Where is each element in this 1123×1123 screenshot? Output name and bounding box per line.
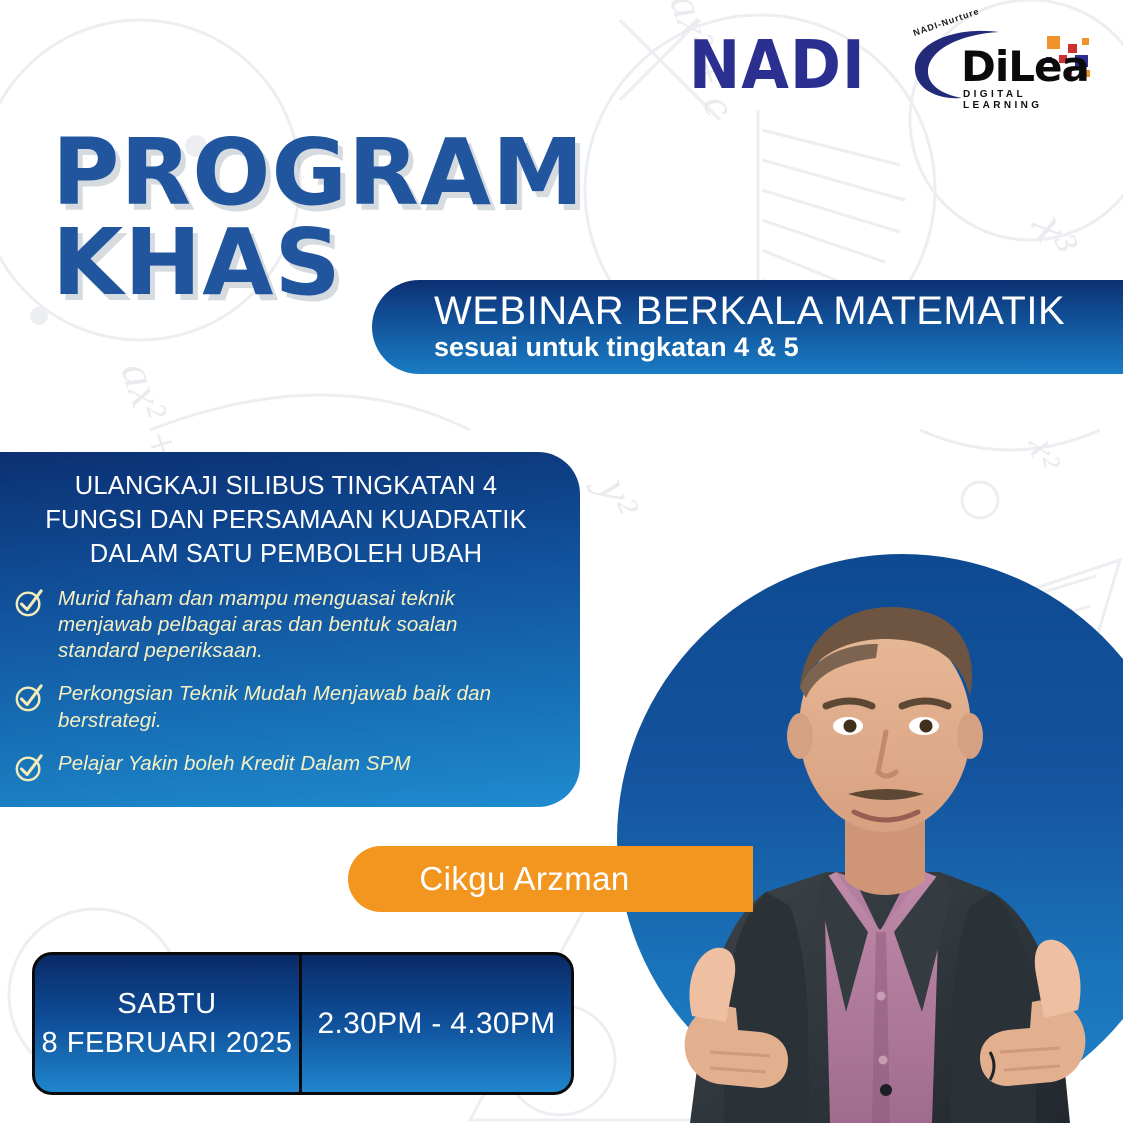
dilea-wordmark: DiLea <box>961 46 1089 88</box>
benefits-list: Murid faham dan mampu menguasai teknik m… <box>14 586 566 783</box>
schedule-time: 2.30PM - 4.30PM <box>318 1007 556 1041</box>
list-item: Perkongsian Teknik Mudah Menjawab baik d… <box>14 681 540 733</box>
dilea-logo: NADI-Nurture DiLea DIGITAL LEARNING <box>907 24 1095 106</box>
panel-heading-line3: DALAM SATU PEMBOLEH UBAH <box>14 538 558 572</box>
list-item: Pelajar Yakin boleh Kredit Dalam SPM <box>14 751 540 783</box>
check-circle-icon <box>14 683 44 713</box>
schedule-date-cell: SABTU 8 FEBRUARI 2025 <box>35 955 302 1092</box>
panel-heading-line1: ULANGKAJI SILIBUS TINGKATAN 4 <box>14 470 558 504</box>
webinar-banner: WEBINAR BERKALA MATEMATIK sesuai untuk t… <box>372 280 1123 374</box>
check-circle-icon <box>14 753 44 783</box>
nadi-logo: NADI <box>688 32 865 99</box>
list-item-label: Perkongsian Teknik Mudah Menjawab baik d… <box>58 681 540 733</box>
check-circle-icon <box>14 588 44 618</box>
watermark-formula-3: x² <box>1019 434 1071 473</box>
speaker-photo <box>640 560 1123 1123</box>
schedule-day: SABTU <box>117 985 216 1023</box>
speaker-name: Cikgu Arzman <box>419 860 629 898</box>
dilea-subtitle: DIGITAL LEARNING <box>963 89 1095 111</box>
panel-heading-line2: FUNGSI DAN PERSAMAAN KUADRATIK <box>14 504 558 538</box>
content-panel: ULANGKAJI SILIBUS TINGKATAN 4 FUNGSI DAN… <box>0 452 580 807</box>
speaker-name-badge: Cikgu Arzman <box>348 846 753 912</box>
webinar-banner-subtitle: sesuai untuk tingkatan 4 & 5 <box>434 332 1123 363</box>
watermark-formula-4: y² <box>586 471 650 523</box>
schedule-date: 8 FEBRUARI 2025 <box>42 1024 293 1062</box>
schedule-time-cell: 2.30PM - 4.30PM <box>302 955 571 1092</box>
list-item-label: Murid faham dan mampu menguasai teknik m… <box>58 586 540 665</box>
list-item: Murid faham dan mampu menguasai teknik m… <box>14 586 540 665</box>
webinar-banner-title: WEBINAR BERKALA MATEMATIK <box>434 291 1123 332</box>
list-item-label: Pelajar Yakin boleh Kredit Dalam SPM <box>58 751 411 777</box>
panel-heading: ULANGKAJI SILIBUS TINGKATAN 4 FUNGSI DAN… <box>14 470 566 572</box>
logo-row: NADI NADI-Nurture DiLea DIGITAL LEARNING <box>681 24 1095 106</box>
poster-root: ax² + c ax² + c x² y² x³ πr² NADI NADI-N… <box>0 0 1123 1123</box>
watermark-formula-5: x³ <box>1019 204 1089 265</box>
schedule-box: SABTU 8 FEBRUARI 2025 2.30PM - 4.30PM <box>32 952 574 1095</box>
